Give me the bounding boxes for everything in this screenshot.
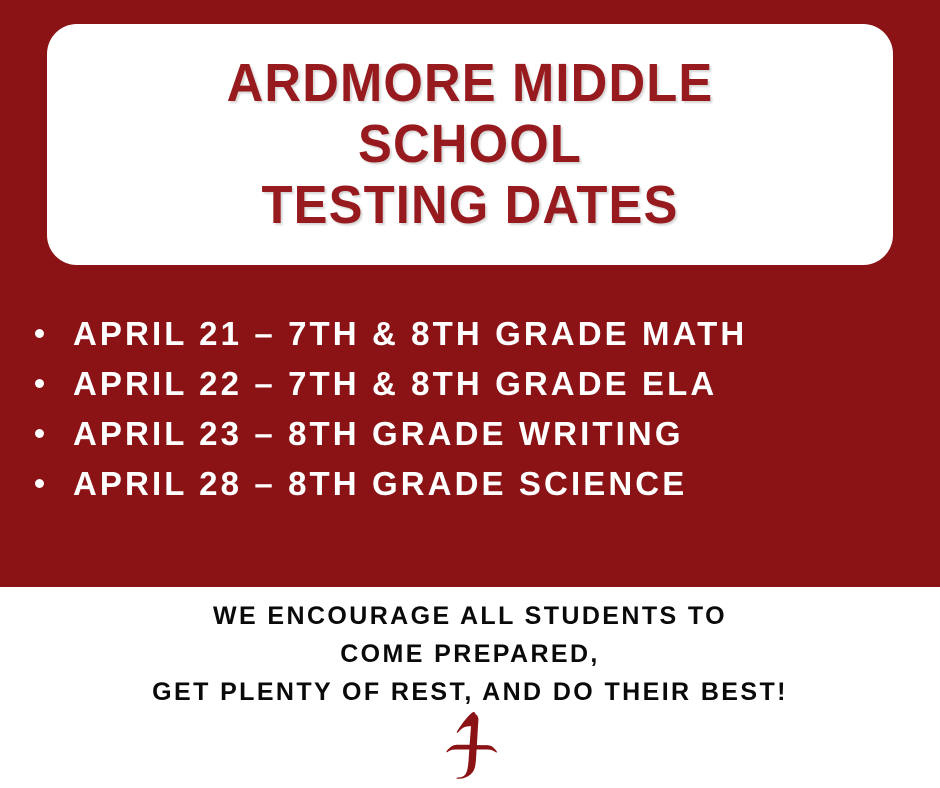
list-item: APRIL 21 – 7TH & 8TH GRADE MATH [30,308,910,358]
school-logo [0,708,940,784]
list-item-label: APRIL 22 – 7TH & 8TH GRADE ELA [73,367,717,400]
list-item: APRIL 22 – 7TH & 8TH GRADE ELA [30,358,910,408]
list-item-label: APRIL 28 – 8TH GRADE SCIENCE [73,467,687,500]
title-card: ARDMORE MIDDLE SCHOOL TESTING DATES [47,24,893,265]
list-item-label: APRIL 21 – 7TH & 8TH GRADE MATH [73,317,747,350]
script-a-logo-icon [439,712,501,780]
bullet-dot-icon [35,479,44,488]
page-title: ARDMORE MIDDLE SCHOOL TESTING DATES [72,53,867,236]
list-item: APRIL 23 – 8TH GRADE WRITING [30,408,910,458]
testing-dates-poster: ARDMORE MIDDLE SCHOOL TESTING DATES APRI… [0,0,940,788]
list-item-label: APRIL 23 – 8TH GRADE WRITING [73,417,684,450]
encouragement-message: WE ENCOURAGE ALL STUDENTS TO COME PREPAR… [0,597,940,711]
list-item: APRIL 28 – 8TH GRADE SCIENCE [30,458,910,508]
bullet-dot-icon [35,329,44,338]
bullet-dot-icon [35,379,44,388]
testing-dates-list: APRIL 21 – 7TH & 8TH GRADE MATH APRIL 22… [30,308,910,508]
bullet-dot-icon [35,429,44,438]
